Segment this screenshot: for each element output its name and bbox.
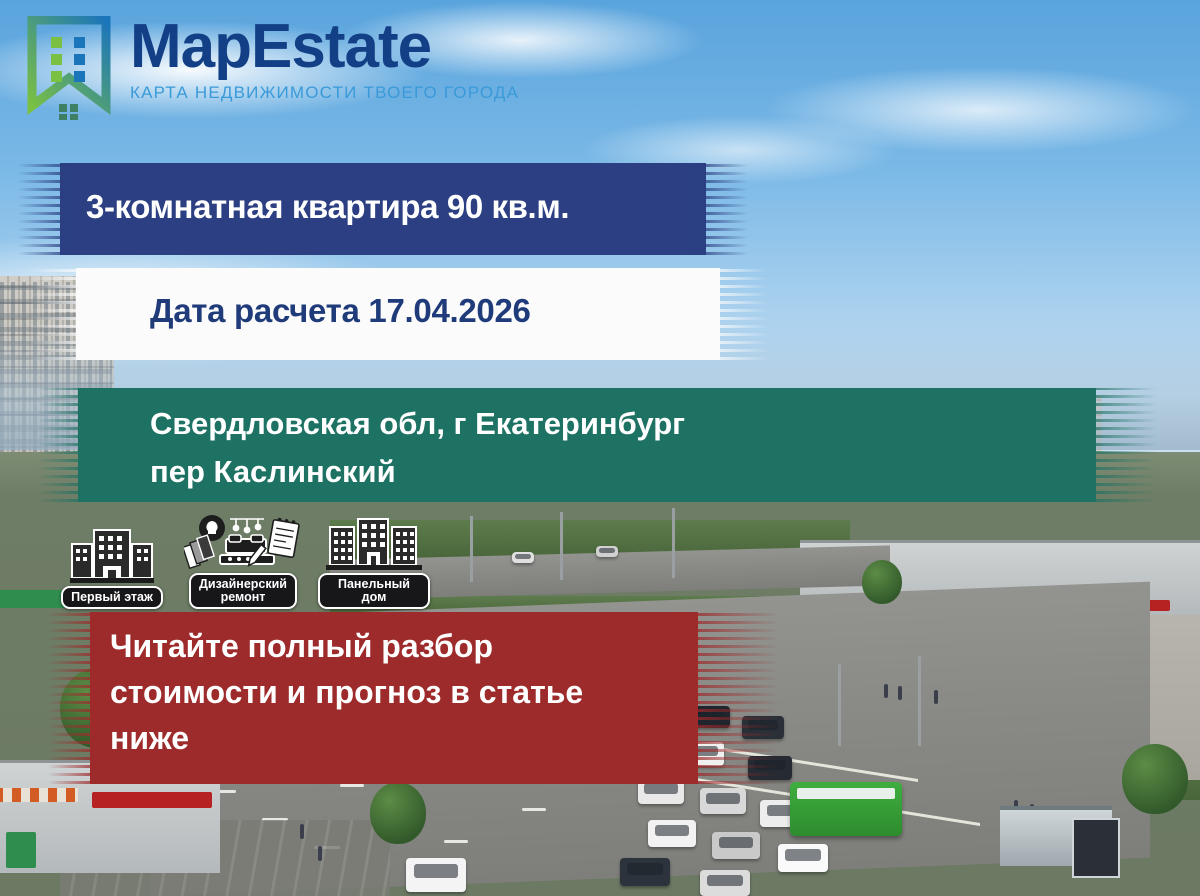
banner-property-title-text: 3-комнатная квартира 90 кв.м. — [86, 188, 766, 226]
badge-designer-renovation[interactable]: Дизайнерский ремонт — [178, 515, 308, 609]
lane-dash — [444, 840, 468, 843]
shop-awning — [0, 788, 78, 802]
billboard — [1072, 818, 1120, 878]
banner-cta-line-2: стоимости и прогноз в статье — [110, 674, 790, 711]
brand-name: MapEstate — [130, 18, 519, 77]
car-far — [596, 546, 618, 557]
street-light-pole — [672, 508, 675, 578]
traffic-light-pole — [918, 656, 921, 746]
car — [700, 870, 750, 896]
pedestrian — [318, 846, 322, 861]
panel-house-icon — [326, 515, 422, 573]
banner-brush-edge-right — [1070, 388, 1156, 502]
feature-badges: Первый этаж — [56, 515, 430, 609]
banner-address-line-2: пер Каслинский — [150, 454, 1050, 490]
lane-dash — [522, 808, 546, 811]
shop-sign-left — [92, 792, 212, 808]
banner-cta-line-1: Читайте полный разбор — [110, 628, 770, 665]
banner-calculation-date-text: Дата расчета 17.04.2026 — [150, 292, 770, 330]
car — [778, 844, 828, 872]
apartment-building-icon — [70, 528, 154, 586]
badge-panel-house[interactable]: Панельный дом — [318, 515, 430, 609]
car — [712, 832, 760, 859]
car — [700, 788, 746, 814]
pedestrian — [898, 686, 902, 700]
pedestrian — [884, 684, 888, 698]
promo-poster: MapEstate КАРТА НЕДВИЖИМОСТИ ТВОЕГО ГОРО… — [0, 0, 1200, 896]
car-far — [512, 552, 534, 563]
banner-brush-edge-left — [28, 268, 94, 360]
banner-brush-edge-left — [48, 612, 106, 784]
pedestrian — [300, 824, 304, 839]
city-bus — [790, 782, 902, 836]
banner-brush-edge-left — [38, 388, 96, 502]
shop-sign-green — [6, 832, 36, 868]
brand-tagline: КАРТА НЕДВИЖИМОСТИ ТВОЕГО ГОРОДА — [130, 83, 519, 103]
traffic-light-pole — [838, 664, 841, 746]
tree — [370, 782, 426, 844]
lane-dash — [340, 784, 364, 787]
car — [620, 858, 670, 886]
banner-cta-line-3: ниже — [110, 720, 770, 757]
van — [406, 858, 466, 892]
bookmark-building-icon — [26, 16, 112, 120]
pedestrian — [934, 690, 938, 704]
street-light-pole — [470, 516, 473, 582]
tree — [1122, 744, 1188, 814]
banner-brush-edge-left — [18, 163, 76, 255]
badge-designer-renovation-label: Дизайнерский ремонт — [189, 573, 297, 609]
badge-first-floor-label: Первый этаж — [61, 586, 163, 609]
tree — [862, 560, 902, 604]
car — [648, 820, 696, 847]
badge-first-floor[interactable]: Первый этаж — [56, 528, 168, 609]
street-light-pole — [560, 512, 563, 580]
banner-address-line-1: Свердловская обл, г Екатеринбург — [150, 406, 1050, 442]
badge-panel-house-label: Панельный дом — [318, 573, 430, 609]
interior-design-icon — [184, 515, 302, 573]
brand-logo[interactable]: MapEstate КАРТА НЕДВИЖИМОСТИ ТВОЕГО ГОРО… — [26, 16, 519, 120]
